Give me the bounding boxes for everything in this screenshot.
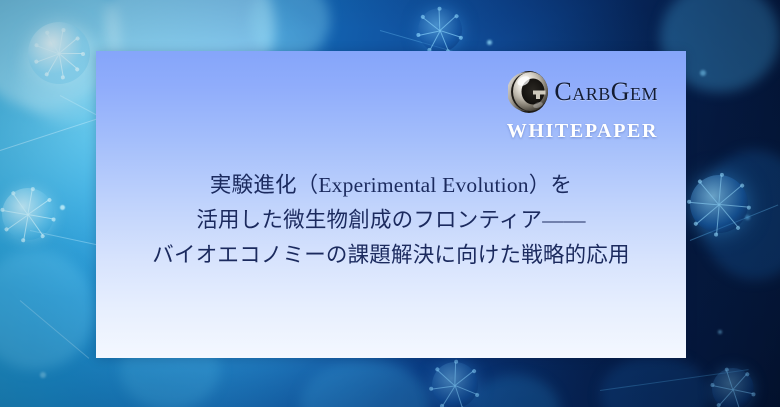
title-line-1: 実験進化（Experimental Evolution）を <box>96 168 686 203</box>
carbgem-sphere-g-logo-icon <box>508 69 552 115</box>
page-title: 実験進化（Experimental Evolution）を 活用した微生物創成の… <box>96 168 686 273</box>
title-line-2: 活用した微生物創成のフロンティア—— <box>96 203 686 238</box>
document-type-label: WHITEPAPER <box>358 121 658 141</box>
slide-canvas: CarbGem WHITEPAPER 実験進化（Experimental Evo… <box>0 0 780 407</box>
title-line-3: バイオエコノミーの課題解決に向けた戦略的応用 <box>96 238 686 273</box>
cover-card: CarbGem WHITEPAPER 実験進化（Experimental Evo… <box>96 51 686 358</box>
brand-name: CarbGem <box>554 79 658 105</box>
brand-block: CarbGem WHITEPAPER <box>358 68 658 141</box>
brand-lockup: CarbGem <box>358 68 658 116</box>
